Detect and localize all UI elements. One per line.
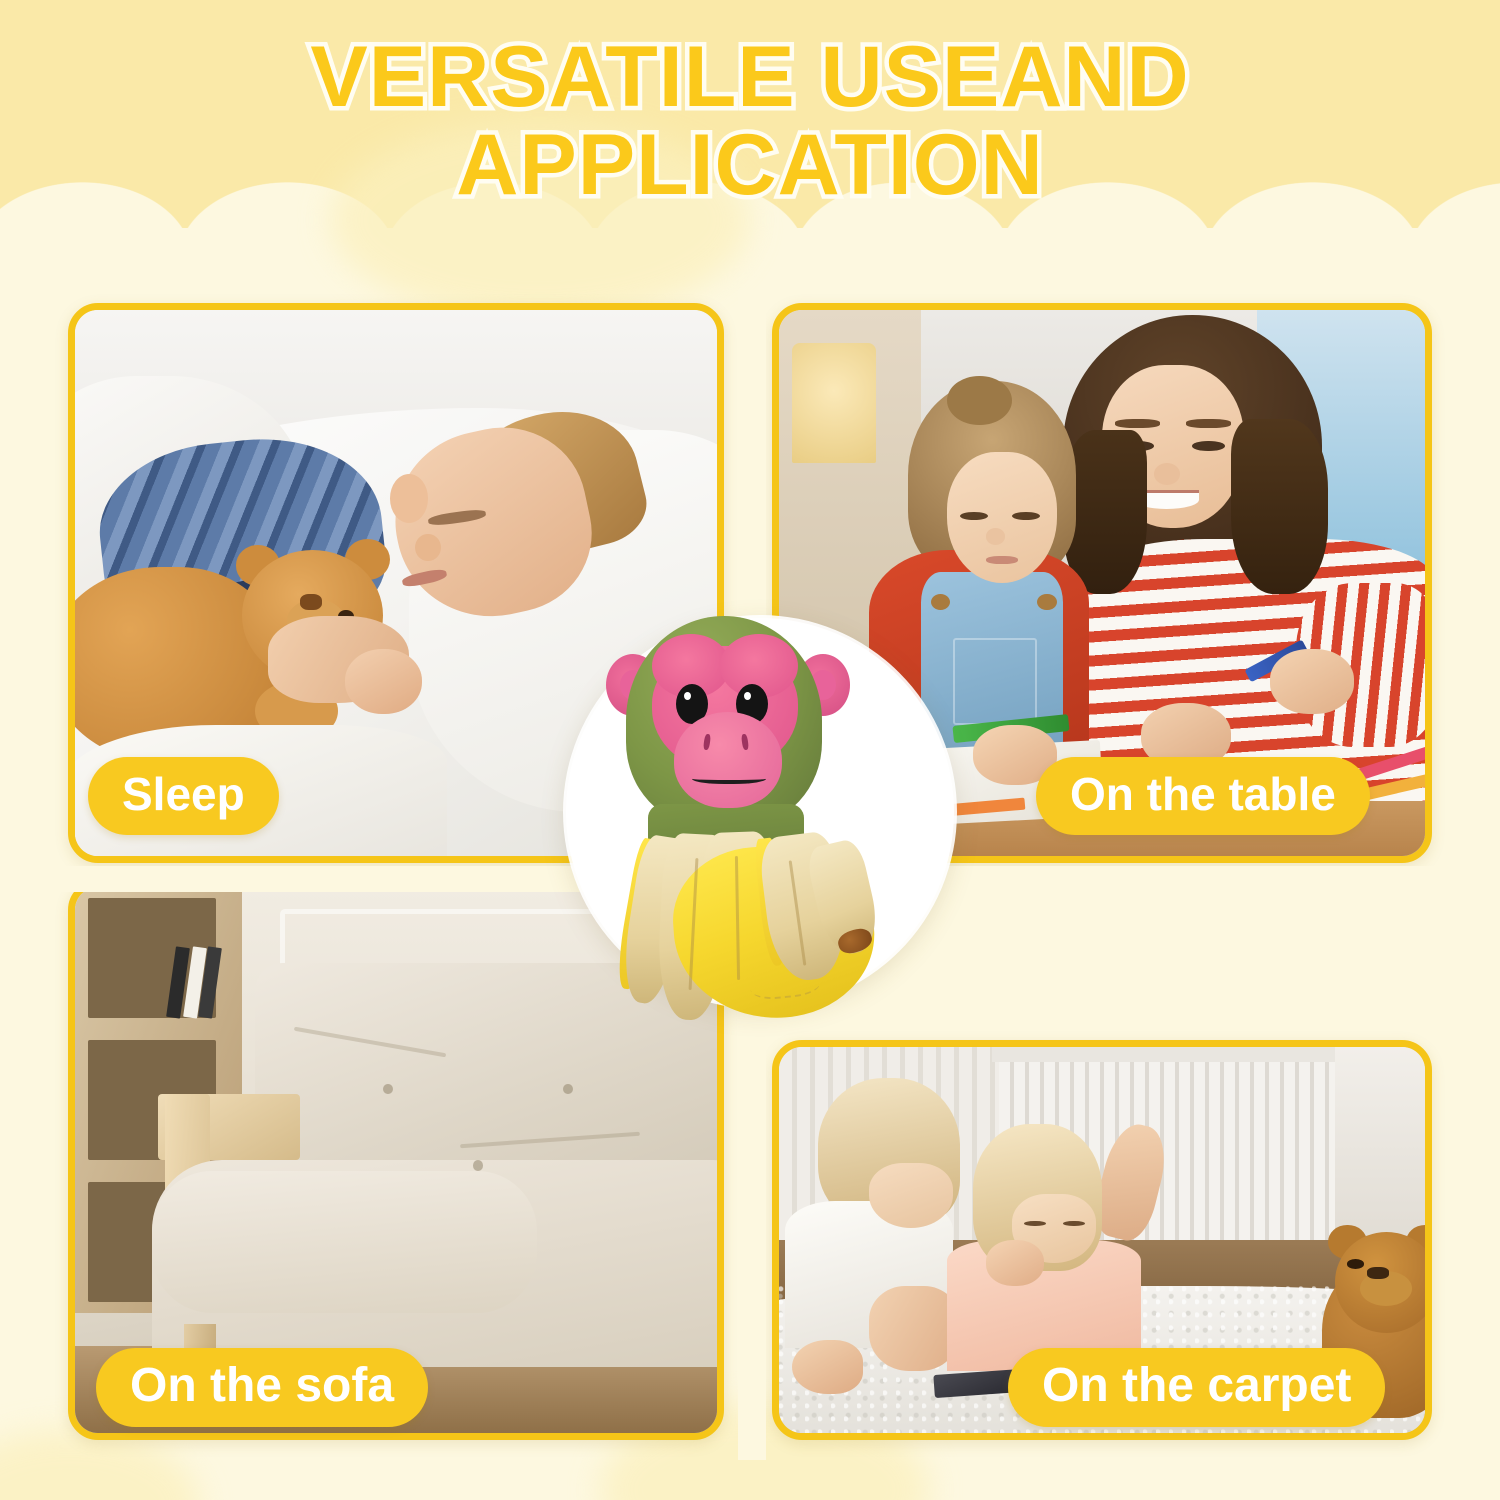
carpet-teddy-nose [1367,1267,1389,1279]
badge-sofa: On the sofa [96,1348,428,1427]
monkey-eye-highlight-right [744,692,751,700]
title-line-2: APPLICATION [0,122,1500,210]
girl-nose [986,528,1005,544]
promo-page: VERSATILE USEAND APPLICATION [0,0,1500,1500]
girl-two-hand [986,1240,1044,1286]
boy-ear [390,474,429,523]
radiator-top [992,1047,1341,1062]
girl-two-eye-right [1063,1221,1085,1226]
mother-hair-strand-right [1231,419,1328,594]
mother-eye-right [1192,441,1224,451]
mother-nose [1154,463,1180,485]
mother-eyebrow-right [1186,419,1231,428]
mother-eyebrow-left [1115,419,1160,428]
girl-hair-bun [947,376,1012,425]
girl-mouth [986,556,1018,565]
badge-sofa-label: On the sofa [130,1358,394,1413]
badge-sleep: Sleep [88,757,279,835]
monkey-mouth [692,772,766,784]
sofa-bolster-roll [152,1171,537,1313]
overall-pocket [953,638,1037,725]
badge-table: On the table [1036,757,1370,835]
badge-carpet: On the carpet [1008,1348,1385,1427]
monkey-eye-highlight-left [684,692,691,700]
overall-button-right [1037,594,1056,610]
boy-hand [345,649,422,715]
badge-carpet-label: On the carpet [1042,1358,1351,1413]
page-title: VERSATILE USEAND APPLICATION [0,34,1500,209]
carpet-teddy-eye [1347,1259,1364,1268]
girl-one-foot [792,1340,863,1394]
boy-nose [415,534,441,561]
mother-hand-right [1270,649,1354,715]
monkey-banana-plush-product [600,608,930,1028]
badge-sleep-label: Sleep [122,767,245,821]
monkey-muzzle [674,712,782,808]
teddy-bear-nose [300,594,322,610]
background-blob-bottom-left [0,1430,200,1500]
badge-table-label: On the table [1070,767,1336,821]
title-line-1: VERSATILE USEAND [0,34,1500,122]
table-lamp [792,343,876,463]
